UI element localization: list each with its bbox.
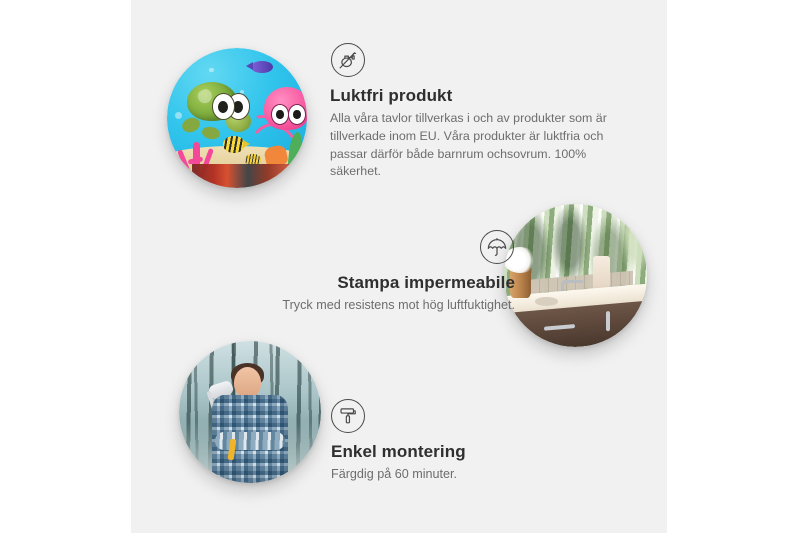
feature-title: Luktfri produkt [330, 86, 625, 106]
photo-underwater-inner [167, 48, 307, 188]
feature-title: Stampa impermeabile [215, 273, 515, 293]
drawer-handle [545, 324, 576, 331]
folded-arms [215, 432, 285, 451]
octopus-eye [288, 104, 306, 124]
feature-waterproof: Stampa impermeabile Tryck med resistens … [215, 230, 515, 315]
product-photo-painter[interactable] [179, 341, 321, 483]
feature-odourless: Luktfri produkt Alla våra tavlor tillver… [330, 43, 625, 181]
turtle-eye [212, 93, 235, 119]
face [234, 367, 261, 398]
feature-panel: Luktfri produkt Alla våra tavlor tillver… [131, 0, 667, 533]
paint-roller-icon [331, 399, 365, 433]
feature-body: Alla våra tavlor tillverkas i och av pro… [330, 110, 625, 180]
photo-painter-inner [179, 341, 321, 483]
feature-body: Tryck med resistens mot hög luftfuktighe… [215, 297, 515, 315]
octopus-eye [271, 104, 289, 124]
feature-body: Färgdig på 60 minuter. [331, 466, 611, 484]
product-photo-bathroom[interactable] [504, 204, 647, 347]
scene-foreground-strip [192, 164, 298, 188]
product-photo-underwater[interactable] [167, 48, 307, 188]
umbrella-icon [480, 230, 514, 264]
screenshot-stage: Luktfri produkt Alla våra tavlor tillver… [0, 0, 800, 533]
feature-title: Enkel montering [331, 442, 611, 462]
feature-assembly: Enkel montering Färgdig på 60 minuter. [331, 399, 611, 484]
photo-bathroom-inner [504, 204, 647, 347]
cabinet-handle [606, 311, 610, 331]
woman-painter [210, 367, 290, 483]
no-fragrance-icon [331, 43, 365, 77]
sea-turtle-icon [181, 82, 251, 135]
soap-dish [535, 297, 558, 306]
